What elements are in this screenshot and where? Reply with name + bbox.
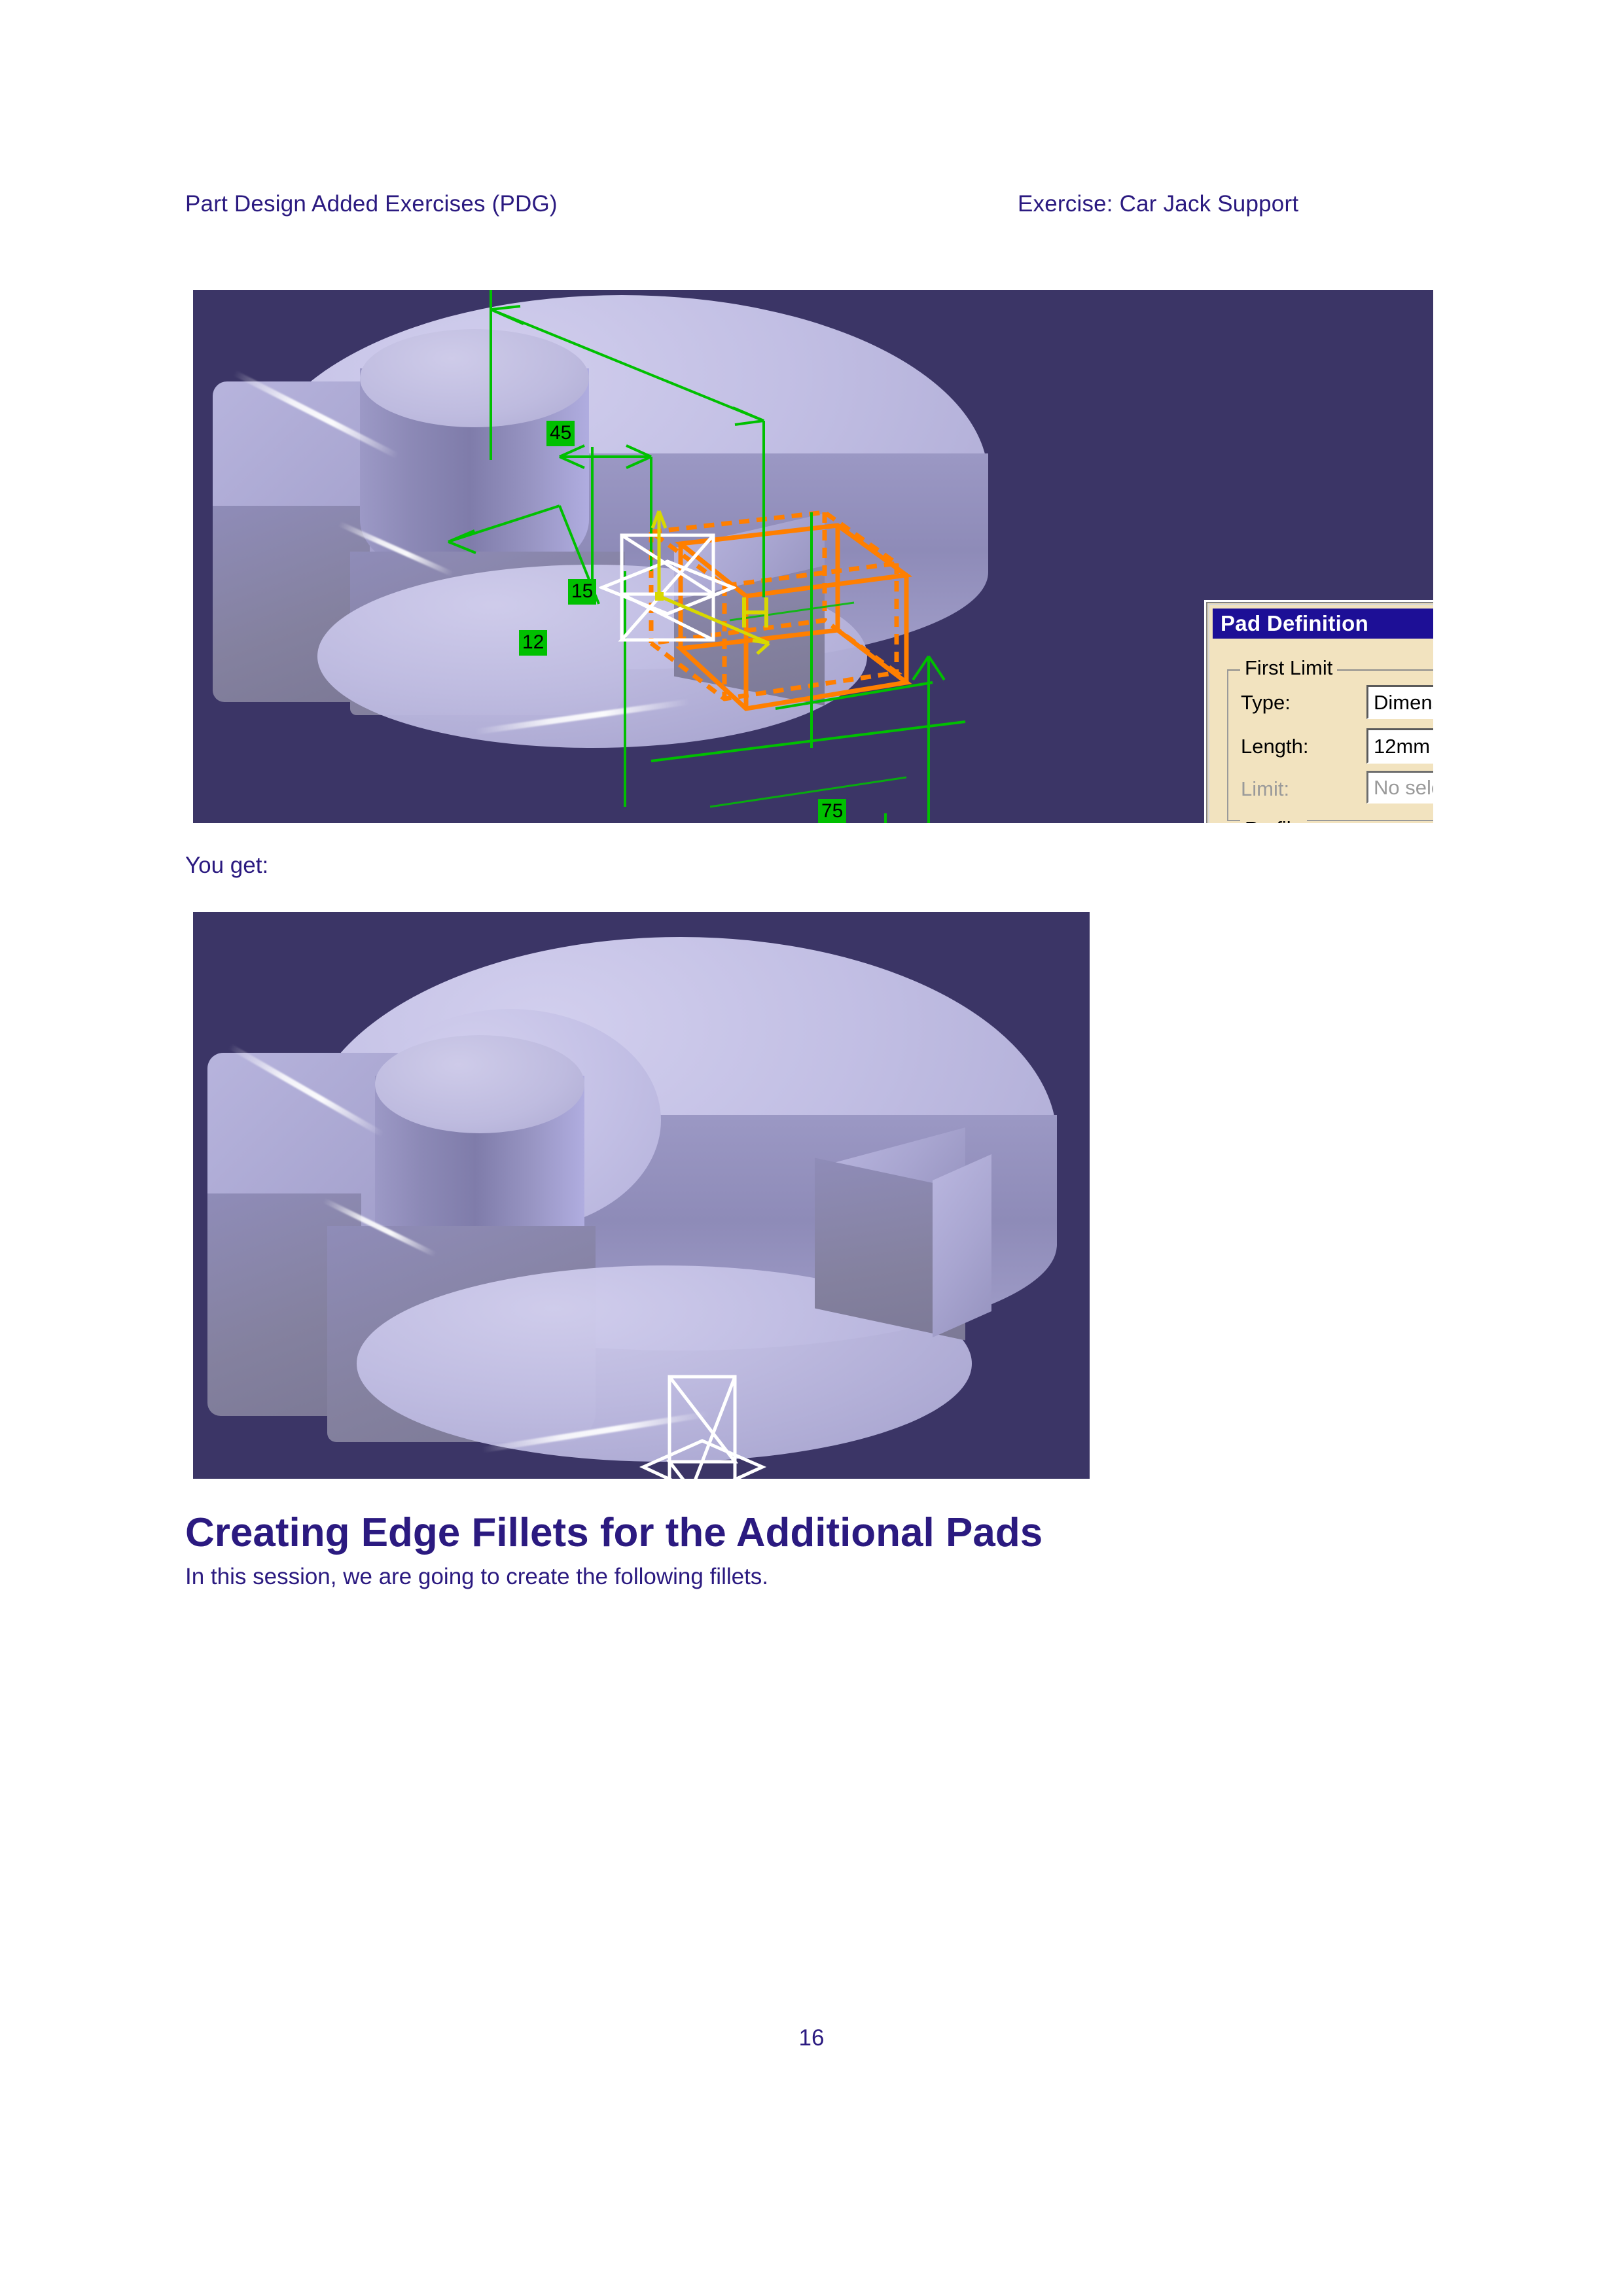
type-combobox[interactable]: Dimension [1366,685,1433,719]
header-course-title: Part Design Added Exercises (PDG) [185,191,558,217]
compass-icon [638,1370,769,1479]
dimension-label-45: 45 [546,421,575,446]
type-value: Dimension [1374,691,1433,715]
dialog-inner-frame: Pad Definition ? X First Limit Type: Dim… [1208,604,1433,823]
length-value: 12mm [1374,735,1430,758]
section-heading: Creating Edge Fillets for the Additional… [185,1510,1043,1556]
dimension-label-15: 15 [568,579,596,605]
catia-screenshot-pad-definition: 45 15 12 75 9 30 [193,290,1433,823]
limit-value: No selection [1374,776,1433,800]
pad-definition-dialog[interactable]: Pad Definition ? X First Limit Type: Dim… [1204,600,1433,823]
you-get-caption: You get: [185,853,268,879]
dimension-label-12: 12 [519,630,547,656]
page-header: Part Design Added Exercises (PDG) Exerci… [0,191,1623,224]
header-exercise-title: Exercise: Car Jack Support [1018,191,1298,217]
length-label: Length: [1241,735,1308,758]
catia-screenshot-result [193,912,1090,1479]
limit-label: Limit: [1241,777,1289,801]
dialog-title: Pad Definition [1213,611,1368,636]
document-page: Part Design Added Exercises (PDG) Exerci… [0,0,1623,2296]
first-limit-group-label: First Limit [1240,656,1337,680]
page-number: 16 [0,2025,1623,2051]
dialog-titlebar[interactable]: Pad Definition ? X [1213,609,1433,639]
limit-input: No selection [1366,771,1433,804]
section-intro-text: In this session, we are going to create … [185,1564,768,1590]
type-label: Type: [1241,691,1291,715]
length-input[interactable]: 12mm [1366,728,1433,764]
dimension-label-75: 75 [818,799,846,823]
profile-group-label: Profile [1240,817,1307,823]
axis-system-icon [645,504,795,662]
